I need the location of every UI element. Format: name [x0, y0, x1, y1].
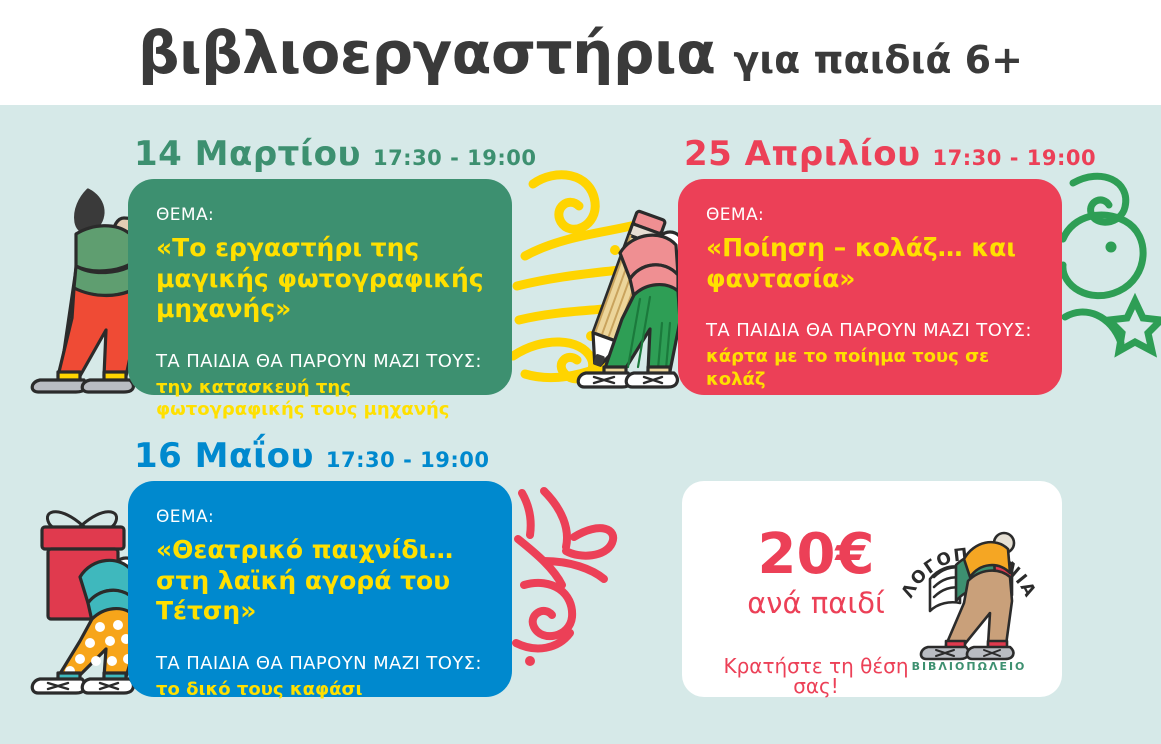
theme-label-0: ΘΕΜΑ:: [156, 205, 484, 225]
theme-text-2: «Θεατρικό παιχνίδι… στη λαϊκή αγορά του …: [156, 535, 484, 627]
theme-label-1: ΘΕΜΑ:: [706, 205, 1034, 225]
price-per-child: ανά παιδί: [716, 589, 916, 618]
price-card[interactable]: 20€ ανά παιδί Κρατήστε τη θέση σας! ΛΟΓΟ…: [682, 481, 1062, 697]
session-card-2: ΘΕΜΑ: «Θεατρικό παιχνίδι… στη λαϊκή αγορ…: [128, 481, 512, 697]
logopaignia-logo: ΛΟΓΟΠΑΙΓΝΙΑ: [894, 507, 1044, 677]
logo-graphic: ΛΟΓΟΠΑΙΓΝΙΑ: [894, 507, 1044, 677]
bring-value-0: την κατασκευή της φωτογραφικής τους μηχα…: [156, 377, 484, 422]
poster-root: βιβλιοεργαστήρια για παιδιά 6+: [0, 0, 1161, 744]
page-subtitle: για παιδιά 6+: [733, 41, 1023, 79]
bring-label-2: ΤΑ ΠΑΙΔΙΑ ΘΑ ΠΑΡΟΥΝ ΜΑΖΙ ΤΟΥΣ:: [156, 653, 484, 674]
green-swirl-star-decoration: [1055, 165, 1161, 365]
bring-value-2: το δικό τους καφάσι: [156, 679, 484, 702]
session-time-0: 17:30 - 19:00: [373, 148, 537, 169]
session-date-0: 14 Μαρτίου: [134, 137, 361, 171]
theme-text-1: «Ποίηση – κολάζ… και φαντασία»: [706, 233, 1034, 294]
bring-label-1: ΤΑ ΠΑΙΔΙΑ ΘΑ ΠΑΡΟΥΝ ΜΑΖΙ ΤΟΥΣ:: [706, 320, 1034, 341]
reserve-cta-text: Κρατήστε τη θέση σας!: [716, 656, 916, 696]
theme-label-2: ΘΕΜΑ:: [156, 507, 484, 527]
session-time-2: 17:30 - 19:00: [326, 450, 490, 471]
session-time-1: 17:30 - 19:00: [933, 148, 1097, 169]
bring-value-1: κάρτα με το ποίημα τους σε κολάζ: [706, 346, 1034, 391]
title-row: βιβλιοεργαστήρια για παιδιά 6+: [138, 24, 1023, 82]
price-amount: 20€: [716, 527, 916, 583]
session-card-0: ΘΕΜΑ: «Το εργαστήρι της μαγικής φωτογραφ…: [128, 179, 512, 395]
session-date-heading-1: 25 Απριλίου 17:30 - 19:00: [684, 137, 1096, 171]
logo-subtitle: ΒΙΒΛΙΟΠΩΛΕΙΟ: [894, 660, 1044, 673]
red-swirl-decoration: [508, 481, 668, 681]
page-title: βιβλιοεργαστήρια: [138, 24, 715, 82]
poster-canvas: 14 Μαρτίου 17:30 - 19:00: [0, 105, 1161, 744]
session-date-1: 25 Απριλίου: [684, 137, 921, 171]
bring-label-0: ΤΑ ΠΑΙΔΙΑ ΘΑ ΠΑΡΟΥΝ ΜΑΖΙ ΤΟΥΣ:: [156, 351, 484, 372]
session-date-heading-2: 16 Μαΐου 17:30 - 19:00: [134, 439, 489, 473]
header-band: βιβλιοεργαστήρια για παιδιά 6+: [0, 0, 1161, 105]
pencil-walker-figure: [566, 183, 696, 395]
theme-text-0: «Το εργαστήρι της μαγικής φωτογραφικής μ…: [156, 233, 484, 325]
session-card-1: ΘΕΜΑ: «Ποίηση – κολάζ… και φαντασία» ΤΑ …: [678, 179, 1062, 395]
session-date-2: 16 Μαΐου: [134, 439, 314, 473]
session-date-heading-0: 14 Μαρτίου 17:30 - 19:00: [134, 137, 536, 171]
price-text-column: 20€ ανά παιδί Κρατήστε τη θέση σας!: [716, 527, 916, 696]
